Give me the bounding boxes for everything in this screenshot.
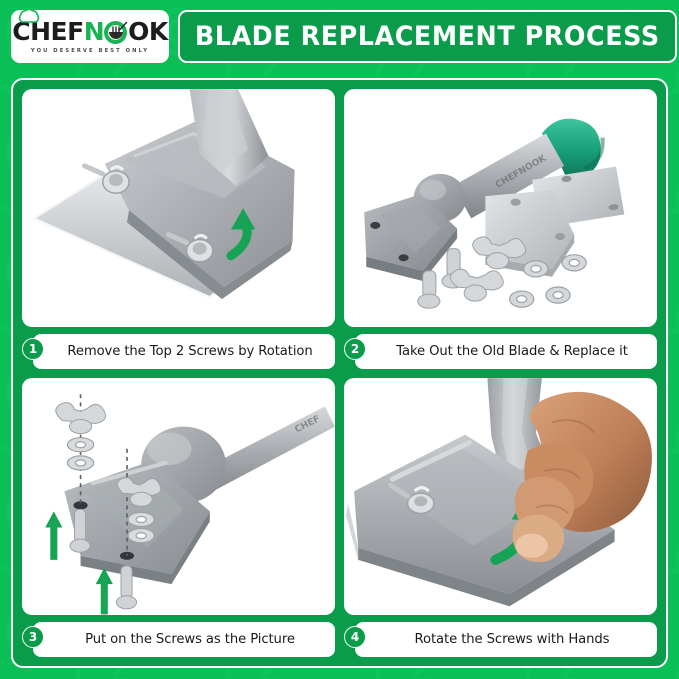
step-panel-1: Remove the Top 2 Screws by Rotation 1	[22, 89, 335, 369]
page-header: CHEF N OK	[0, 0, 679, 72]
step-caption: Put on the Screws as the Picture	[85, 632, 295, 647]
caption-row: Take Out the Old Blade & Replace it 2	[344, 334, 657, 369]
step-panel-2: CHEFNOOK	[344, 89, 657, 369]
caption-bar: Rotate the Screws with Hands	[355, 622, 657, 657]
caption-row: Put on the Screws as the Picture 3	[22, 622, 335, 657]
title-banner: BLADE REPLACEMENT PROCESS	[178, 10, 677, 63]
step-number-badge: 2	[344, 338, 366, 360]
up-arrow-left	[45, 511, 62, 559]
brand-logo: CHEF N OK	[11, 10, 169, 63]
caption-row: Rotate the Screws with Hands 4	[344, 622, 657, 657]
chef-hat-icon	[18, 10, 40, 26]
exploded-screw-assembly-diagram-photo: CHEF	[22, 378, 335, 616]
scraper-head-with-two-screws-photo	[22, 89, 335, 327]
up-arrow-right	[96, 567, 113, 613]
step-panel-4: Rotate the Screws with Hands 4	[344, 378, 657, 658]
step-number-badge: 1	[22, 338, 44, 360]
step-panel-3: CHEF	[22, 378, 335, 658]
logo-wordmark: CHEF N OK	[12, 18, 168, 45]
page-title: BLADE REPLACEMENT PROCESS	[195, 21, 660, 52]
caption-bar: Remove the Top 2 Screws by Rotation	[33, 334, 335, 369]
step-caption: Rotate the Screws with Hands	[415, 632, 610, 647]
step-number-badge: 3	[22, 626, 44, 648]
infographic-page: CHEF N OK	[0, 0, 679, 679]
steps-frame: Remove the Top 2 Screws by Rotation 1	[11, 78, 668, 668]
scraper-tool-blades-and-hardware-photo: CHEFNOOK	[344, 89, 657, 327]
caption-bar: Put on the Screws as the Picture	[33, 622, 335, 657]
frying-pan-icon	[103, 19, 129, 45]
hand-tightening-screw-photo	[344, 378, 657, 616]
logo-text-ok: OK	[128, 19, 168, 44]
caption-row: Remove the Top 2 Screws by Rotation 1	[22, 334, 335, 369]
logo-text-n: N	[84, 19, 104, 44]
caption-bar: Take Out the Old Blade & Replace it	[355, 334, 657, 369]
logo-tagline: YOU DESERVE BEST ONLY	[31, 48, 149, 54]
step-number-badge: 4	[344, 626, 366, 648]
step-caption: Remove the Top 2 Screws by Rotation	[67, 344, 312, 359]
step-caption: Take Out the Old Blade & Replace it	[396, 344, 628, 359]
